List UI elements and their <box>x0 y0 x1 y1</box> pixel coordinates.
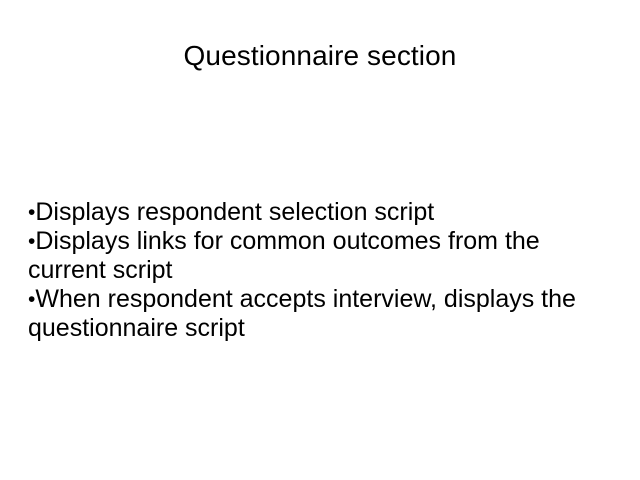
slide-body-text: •Displays respondent selection script •D… <box>28 198 606 343</box>
slide-title: Questionnaire section <box>0 38 640 74</box>
bullet-list-item: •When respondent accepts interview, disp… <box>28 285 606 343</box>
bullet-list-item: •Displays respondent selection script <box>28 198 606 227</box>
presentation-slide: Questionnaire section •Displays responde… <box>0 0 640 480</box>
bullet-item-label: When respondent accepts interview, displ… <box>28 285 576 342</box>
bullet-list-item: •Displays links for common outcomes from… <box>28 227 606 285</box>
bullet-item-label: Displays links for common outcomes from … <box>28 227 540 284</box>
bullet-item-label: Displays respondent selection script <box>35 198 434 226</box>
